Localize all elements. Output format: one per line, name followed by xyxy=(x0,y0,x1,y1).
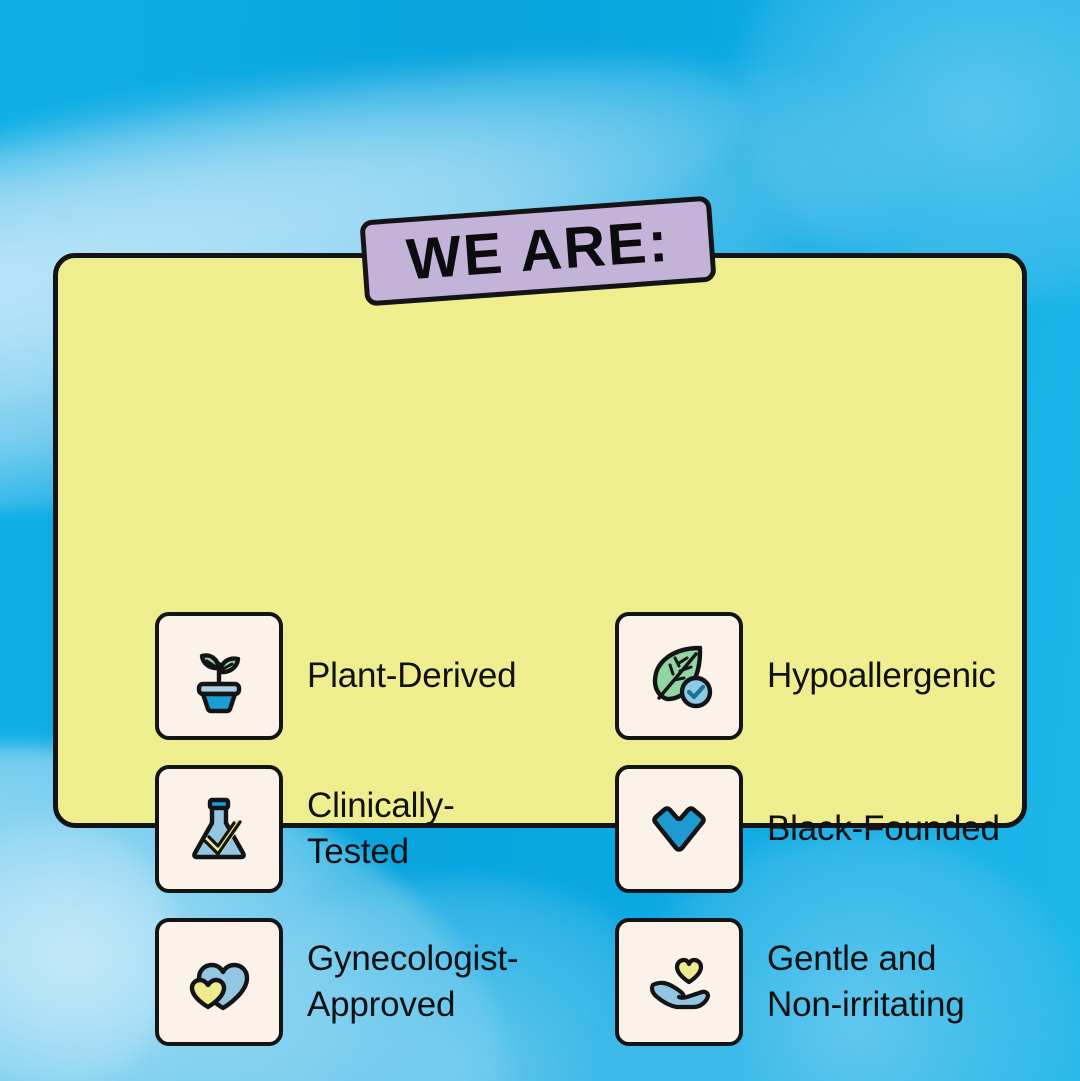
flask-check-icon xyxy=(179,789,259,869)
feature-black-founded: Black-Founded xyxy=(615,752,1055,905)
icon-tile xyxy=(615,918,743,1046)
potted-plant-icon xyxy=(179,636,259,716)
icon-tile xyxy=(155,765,283,893)
feature-plant-derived: Plant-Derived xyxy=(155,599,615,752)
feature-hypoallergenic: Hypoallergenic xyxy=(615,599,1055,752)
feature-label: Hypoallergenic xyxy=(767,653,996,699)
page-title: WE ARE: xyxy=(405,213,672,290)
feature-label: Gentle and Non-irritating xyxy=(767,936,965,1027)
hand-heart-icon xyxy=(639,942,719,1022)
feature-gynecologist-approved: Gynecologist- Approved xyxy=(155,905,615,1058)
features-card: Plant-Derived xyxy=(53,253,1027,828)
leaf-check-icon xyxy=(639,636,719,716)
feature-label: Clinically- Tested xyxy=(307,783,455,874)
icon-tile xyxy=(155,612,283,740)
features-grid: Plant-Derived xyxy=(155,599,1055,1058)
promotional-graphic: Plant-Derived xyxy=(0,0,1080,1081)
two-hearts-icon xyxy=(179,942,259,1022)
feature-gentle-non-irritating: Gentle and Non-irritating xyxy=(615,905,1055,1058)
feature-clinically-tested: Clinically- Tested xyxy=(155,752,615,905)
feature-label: Black-Founded xyxy=(767,806,1000,852)
icon-tile xyxy=(615,765,743,893)
feature-label: Plant-Derived xyxy=(307,653,516,699)
icon-tile xyxy=(615,612,743,740)
feature-label: Gynecologist- Approved xyxy=(307,936,518,1027)
angular-heart-icon xyxy=(639,789,719,869)
icon-tile xyxy=(155,918,283,1046)
